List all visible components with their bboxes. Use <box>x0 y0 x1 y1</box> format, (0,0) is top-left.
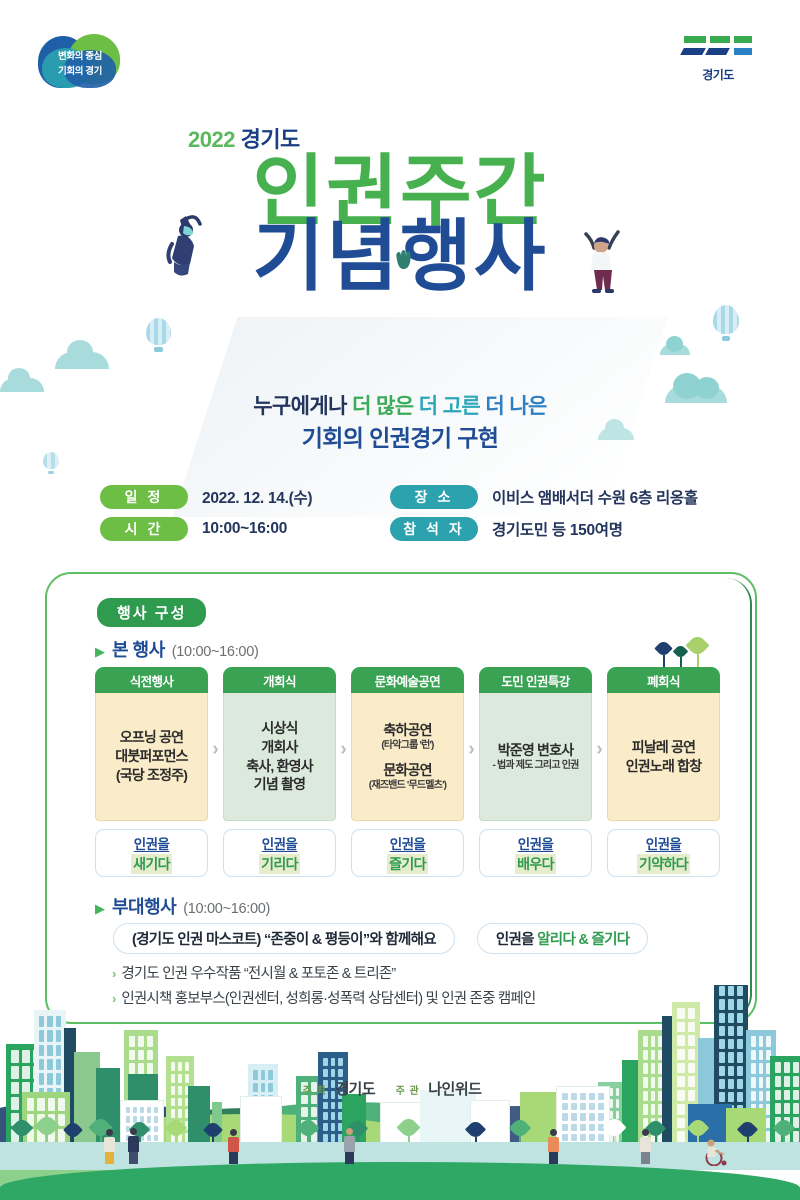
program-cards: 식전행사오프닝 공연대붓퍼포먼스(국당 조정주)인권을새기다›개회식시상식개회사… <box>95 667 720 877</box>
info-value-date: 2022. 12. 14.(수) <box>202 486 312 508</box>
program-card-header: 폐회식 <box>607 667 720 693</box>
mascot-box: (경기도 인권 마스코트) “존중이 & 평등이”와 함께해요 <box>113 923 455 954</box>
hot-air-balloon-icon <box>713 305 739 343</box>
cloud-icon <box>0 378 44 392</box>
program-card-body: 피날레 공연인권노래 합창 <box>607 693 720 821</box>
section-triangle-icon: ▶ <box>95 644 105 660</box>
program-card-body: 오프닝 공연대붓퍼포먼스(국당 조정주) <box>95 693 208 821</box>
info-label-venue: 장 소 <box>390 485 478 509</box>
subtitle-word-2: 더 고른 <box>419 395 480 418</box>
card-separator-chevron-icon: › <box>336 667 351 877</box>
main-program-time: (10:00~16:00) <box>172 644 259 660</box>
slogan-box: 인권을 알리다 & 즐기다 <box>477 923 649 954</box>
program-card-footer: 인권을새기다 <box>95 829 208 877</box>
subtitle-line-1: 누구에게나 더 많은 더 고른 더 나은 <box>0 392 800 422</box>
info-row-time: 시 간 10:00~16:00 <box>100 516 312 542</box>
card-footer-bottom: 새기다 <box>131 854 172 874</box>
subtitle-word-1: 더 많은 <box>352 395 413 418</box>
emblem-line-2: 기회의 경기 <box>58 63 102 77</box>
wheelchair-person-figure <box>700 1138 730 1166</box>
program-card-footer: 인권을즐기다 <box>351 829 464 877</box>
info-value-attendees: 경기도민 등 150여명 <box>492 518 623 540</box>
cloud-icon <box>660 344 690 355</box>
person-figure <box>344 1128 355 1164</box>
credits: 주 최 경기도 주 관 나인위드 <box>0 1078 800 1099</box>
main-title: 인권주간 기념행사 <box>0 152 800 296</box>
program-card: 식전행사오프닝 공연대붓퍼포먼스(국당 조정주)인권을새기다 <box>95 667 208 877</box>
cheering-person-illustration <box>578 228 624 294</box>
card-footer-bottom: 즐기다 <box>387 854 428 874</box>
bullet-item: ›경기도 인권 우수작품 “전시월 & 포토존 & 트리존” <box>112 962 535 983</box>
program-card: 도민 인권특강박준영 변호사- 법과 제도 그리고 인권인권을배우다 <box>479 667 592 877</box>
side-program-time: (10:00~16:00) <box>183 901 270 917</box>
program-card-header: 문화예술공연 <box>351 667 464 693</box>
program-card-subline: (타악그룹 '런') <box>381 739 433 752</box>
program-card-line: 시상식 <box>261 719 297 738</box>
card-separator-chevron-icon: › <box>464 667 479 877</box>
card-separator-chevron-icon: › <box>592 667 607 877</box>
program-card: 폐회식피날레 공연인권노래 합창인권을기약하다 <box>607 667 720 877</box>
section-triangle-icon: ▶ <box>95 901 105 917</box>
organizer-value: 나인위드 <box>428 1081 481 1098</box>
info-row-venue: 장 소 이비스 앰배서더 수원 6층 리옹홀 <box>390 484 698 510</box>
host-label: 주 최 <box>303 1086 327 1097</box>
info-value-venue: 이비스 앰배서더 수원 6층 리옹홀 <box>492 486 698 508</box>
person-figure <box>128 1128 139 1164</box>
program-card-line: 인권노래 합창 <box>626 757 702 776</box>
program-card-body: 시상식개회사축사, 환영사기념 촬영 <box>223 693 336 821</box>
title-year: 2022 <box>188 127 235 152</box>
program-card-body: 박준영 변호사- 법과 제도 그리고 인권 <box>479 693 592 821</box>
slogan-highlight: 알리다 & 즐기다 <box>537 928 629 949</box>
info-column-left: 일 정 2022. 12. 14.(수) 시 간 10:00~16:00 <box>100 484 312 548</box>
card-footer-bottom: 기약하다 <box>637 854 690 874</box>
cloud-icon <box>55 352 109 369</box>
program-card-header: 개회식 <box>223 667 336 693</box>
main-program-heading: ▶ 본 행사 (10:00~16:00) <box>95 636 258 662</box>
card-footer-top: 인권을 <box>390 833 425 853</box>
person-figure <box>228 1129 239 1164</box>
bullet-text: 경기도 인권 우수작품 “전시월 & 포토존 & 트리존” <box>121 962 395 983</box>
program-card-line: 박준영 변호사 <box>498 741 574 760</box>
subtitle-word-3: 더 나은 <box>485 395 546 418</box>
chevron-right-icon: › <box>212 739 218 761</box>
card-footer-top: 인권을 <box>134 833 169 853</box>
tree-icon <box>675 646 686 667</box>
bullet-chevron-icon: › <box>112 966 116 981</box>
gyeonggi-logo-mark <box>678 36 758 62</box>
card-footer-top: 인권을 <box>646 833 681 853</box>
program-section-badge: 행사 구성 <box>97 598 206 627</box>
program-card-footer: 인권을배우다 <box>479 829 592 877</box>
program-card: 문화예술공연축하공연(타악그룹 '런')문화공연(재즈밴드 '무드멜츠')인권을… <box>351 667 464 877</box>
card-footer-bottom: 기리다 <box>259 854 300 874</box>
program-card-line: 오프닝 공연 <box>120 728 184 747</box>
info-column-right: 장 소 이비스 앰배서더 수원 6층 리옹홀 참 석 자 경기도민 등 150여… <box>390 484 698 548</box>
side-event-boxes: (경기도 인권 마스코트) “존중이 & 평등이”와 함께해요 인권을 알리다 … <box>113 923 648 954</box>
program-card-header: 식전행사 <box>95 667 208 693</box>
program-card-subline: (재즈밴드 '무드멜츠') <box>369 779 446 792</box>
card-footer-bottom: 배우다 <box>515 854 556 874</box>
program-card-line: 문화공연 <box>383 761 431 780</box>
chevron-right-icon: › <box>340 739 346 761</box>
host-value: 경기도 <box>335 1081 375 1098</box>
poster-root: 변화의 중심 기회의 경기 경기도 2022 경기도 인권주간 기념행사 <box>0 0 800 1200</box>
gyeonggi-slogan-emblem: 변화의 중심 기회의 경기 <box>38 34 122 90</box>
main-program-name: 본 행사 <box>112 636 165 662</box>
gyeonggi-province-logo: 경기도 <box>678 36 758 83</box>
card-separator-chevron-icon: › <box>208 667 223 877</box>
building-shape <box>240 1096 282 1148</box>
program-card-header: 도민 인권특강 <box>479 667 592 693</box>
person-figure <box>548 1129 559 1164</box>
side-program-heading: ▶ 부대행사 (10:00~16:00) <box>95 893 270 919</box>
person-figure <box>104 1129 115 1164</box>
hand-icon <box>393 248 413 270</box>
subtitle-line-2: 기회의 인권경기 구현 <box>0 422 800 455</box>
tree-icon <box>689 637 706 667</box>
emblem-line-1: 변화의 중심 <box>58 48 102 62</box>
subtitle: 누구에게나 더 많은 더 고른 더 나은 기회의 인권경기 구현 <box>0 392 800 456</box>
program-card-line: 축사, 환영사 <box>246 757 313 776</box>
program-card-line: (국당 조정주) <box>116 766 187 785</box>
info-label-time: 시 간 <box>100 517 188 541</box>
climbing-person-illustration <box>164 214 208 278</box>
side-program-name: 부대행사 <box>112 893 176 919</box>
program-card-line: 기념 촬영 <box>254 775 305 794</box>
program-card-subline: - 법과 제도 그리고 인권 <box>492 759 578 772</box>
program-card-line: 개회사 <box>261 738 297 757</box>
program-card-line: 대붓퍼포먼스 <box>115 747 187 766</box>
person-figure <box>640 1129 651 1164</box>
info-row-date: 일 정 2022. 12. 14.(수) <box>100 484 312 510</box>
program-card-footer: 인권을기약하다 <box>607 829 720 877</box>
card-footer-top: 인권을 <box>262 833 297 853</box>
subtitle-prefix: 누구에게나 <box>253 395 347 418</box>
chevron-right-icon: › <box>468 739 474 761</box>
program-card: 개회식시상식개회사축사, 환영사기념 촬영인권을기리다 <box>223 667 336 877</box>
info-value-time: 10:00~16:00 <box>202 520 287 538</box>
info-row-attendees: 참 석 자 경기도민 등 150여명 <box>390 516 698 542</box>
chevron-right-icon: › <box>596 739 602 761</box>
program-card-body: 축하공연(타악그룹 '런')문화공연(재즈밴드 '무드멜츠') <box>351 693 464 821</box>
info-label-attendees: 참 석 자 <box>390 517 478 541</box>
program-card-footer: 인권을기리다 <box>223 829 336 877</box>
organizer-label: 주 관 <box>396 1086 420 1097</box>
slogan-prefix: 인권을 <box>496 928 534 949</box>
card-footer-top: 인권을 <box>518 833 553 853</box>
tree-decoration-group <box>655 625 715 667</box>
tree-icon <box>657 642 670 667</box>
program-card-line: 축하공연 <box>383 721 431 740</box>
logo-caption: 경기도 <box>678 66 758 83</box>
info-label-date: 일 정 <box>100 485 188 509</box>
program-card-line: 피날레 공연 <box>632 738 696 757</box>
hot-air-balloon-icon <box>146 318 171 354</box>
